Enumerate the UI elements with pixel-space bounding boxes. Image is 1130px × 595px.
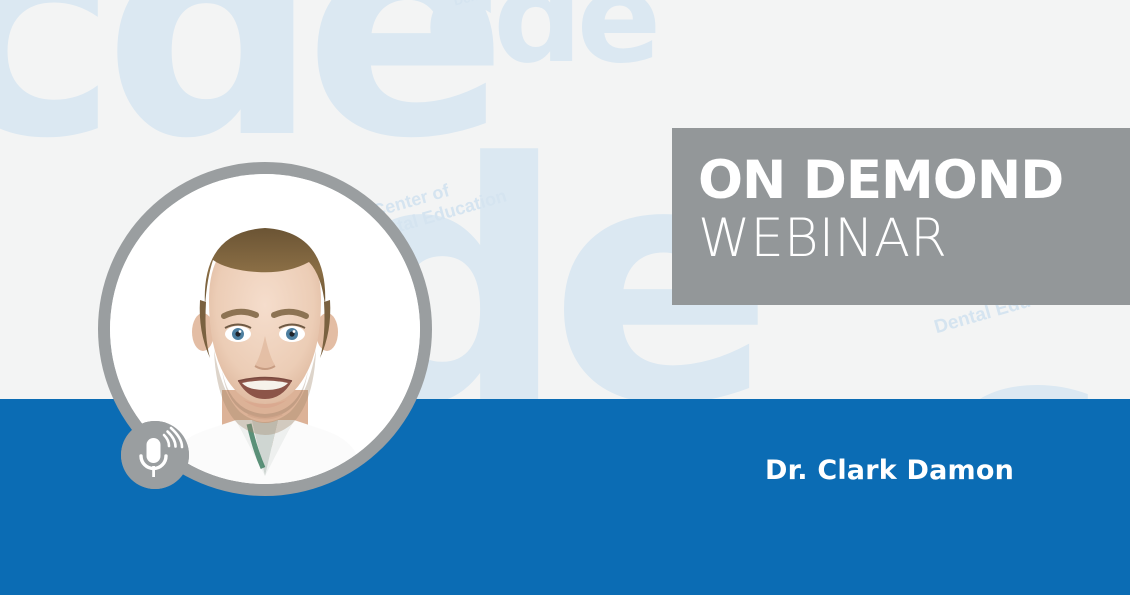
title-secondary: WEBINAR: [698, 210, 1130, 268]
speaker-name: Dr. Clark Damon: [765, 455, 1014, 486]
webinar-promo-banner: cde cde Dental Education cde Center of D…: [0, 0, 1130, 595]
title-banner-box: ON DEMOND WEBINAR: [672, 128, 1130, 305]
microphone-badge: [121, 421, 189, 489]
microphone-icon: [121, 421, 189, 489]
title-primary: ON DEMOND: [698, 152, 1130, 210]
